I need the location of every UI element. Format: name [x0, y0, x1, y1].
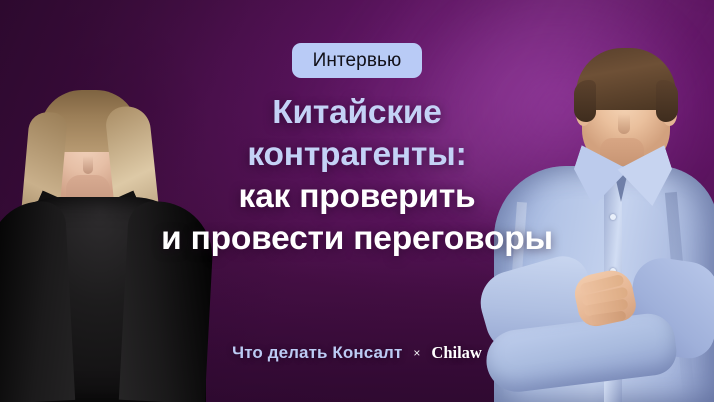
brand-primary-label: Что делать Консалт [232, 343, 402, 363]
brand-footer: Что делать Консалт × Chilaw [0, 343, 714, 363]
shirt-button [610, 214, 616, 220]
title-line-4: и провести переговоры [161, 218, 553, 260]
title-line-2: контрагенты: [161, 134, 553, 176]
brand-separator-icon: × [413, 346, 420, 360]
nose [618, 114, 630, 134]
hair-side-left [574, 80, 596, 122]
banner-title: Китайские контрагенты: как проверить и п… [161, 92, 553, 260]
title-line-1: Китайские [161, 92, 553, 134]
category-badge[interactable]: Интервью [292, 43, 423, 78]
jacket-lapel-left [0, 200, 75, 402]
hair-side-right [656, 80, 678, 122]
promo-banner: Интервью Китайские контрагенты: как пров… [0, 0, 714, 402]
nose [83, 156, 93, 174]
category-badge-label: Интервью [313, 51, 402, 70]
brand-secondary-label: Chilaw [431, 343, 481, 363]
title-line-3: как проверить [161, 176, 553, 218]
